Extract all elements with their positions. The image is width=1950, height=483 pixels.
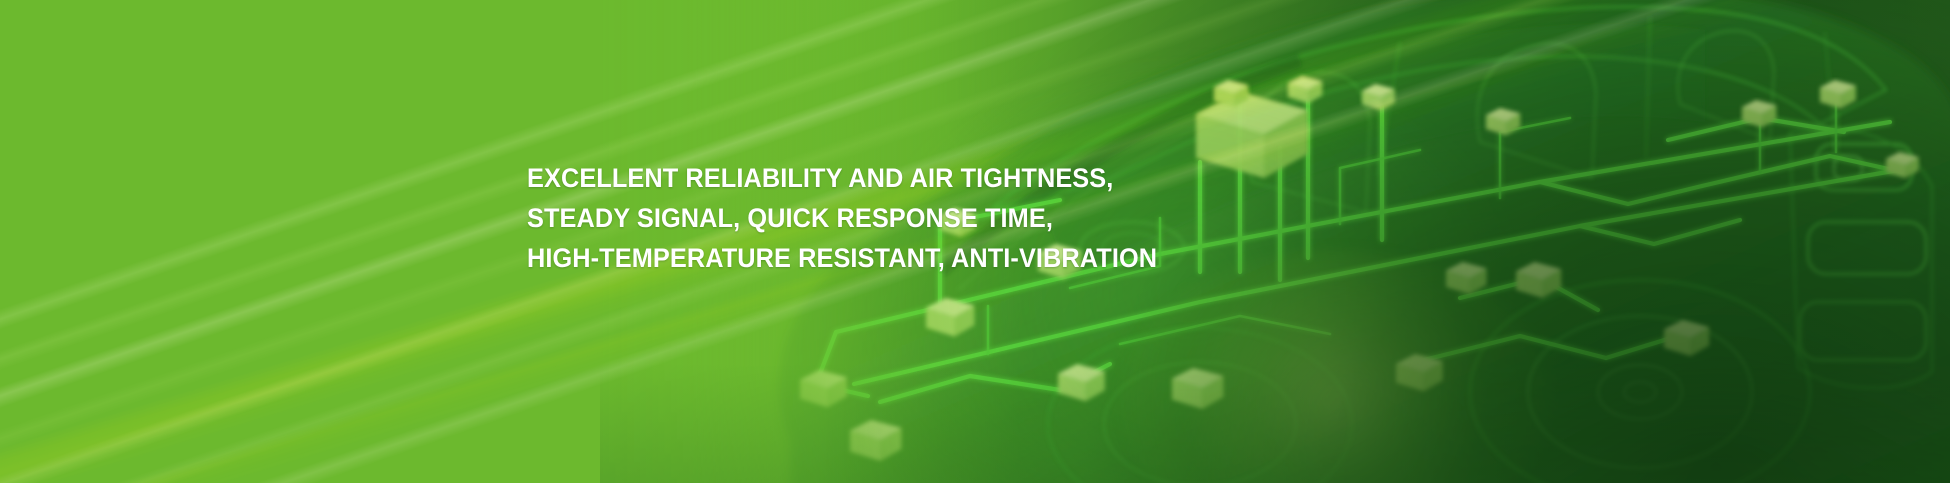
headline-line-2: STEADY SIGNAL, QUICK RESPONSE TIME, xyxy=(527,198,1253,238)
headline-block: EXCELLENT RELIABILITY AND AIR TIGHTNESS,… xyxy=(527,158,1287,278)
promo-banner: EXCELLENT RELIABILITY AND AIR TIGHTNESS,… xyxy=(0,0,1950,483)
headline-line-1: EXCELLENT RELIABILITY AND AIR TIGHTNESS, xyxy=(527,158,1253,198)
headline-line-3: HIGH-TEMPERATURE RESISTANT, ANTI-VIBRATI… xyxy=(527,238,1253,278)
